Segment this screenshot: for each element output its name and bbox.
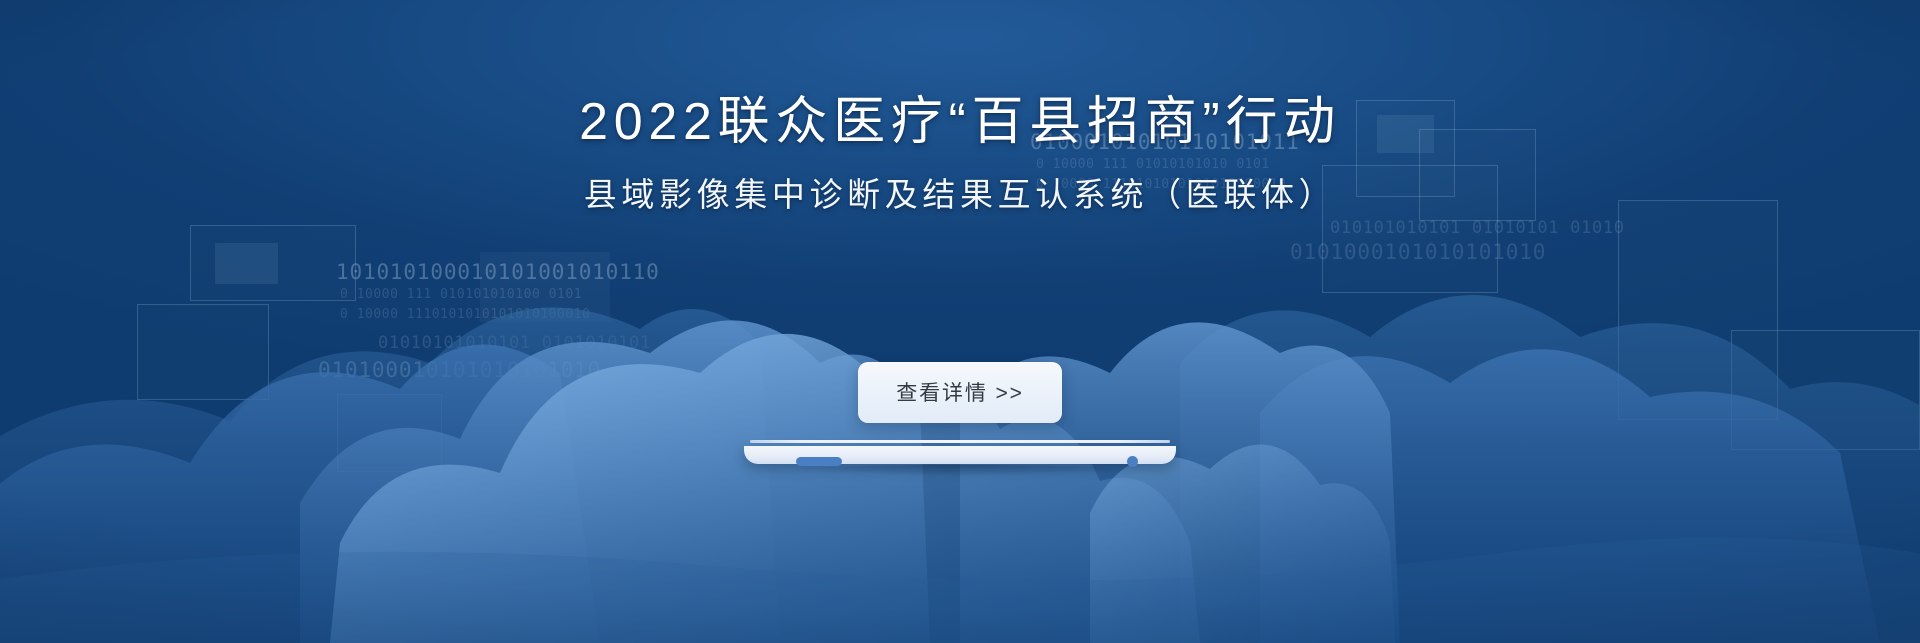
banner-subtitle: 县域影像集中诊断及结果互认系统（医联体） (0, 175, 1920, 215)
laptop-shadow (758, 465, 1162, 481)
laptop-slot-icon (796, 457, 842, 466)
laptop-body (744, 446, 1176, 464)
banner-title: 2022联众医疗“百县招商”行动 (0, 92, 1920, 153)
cta-block: 查看详情 >> (0, 362, 1920, 423)
promo-banner: 101010100010101001010110 0 10000 111 010… (0, 0, 1920, 643)
laptop-base-illustration (744, 440, 1176, 486)
laptop-screen-edge (750, 440, 1170, 443)
view-details-button[interactable]: 查看详情 >> (858, 362, 1062, 423)
headline-block: 2022联众医疗“百县招商”行动 县域影像集中诊断及结果互认系统（医联体） (0, 92, 1920, 215)
laptop-dot-icon (1127, 456, 1138, 467)
